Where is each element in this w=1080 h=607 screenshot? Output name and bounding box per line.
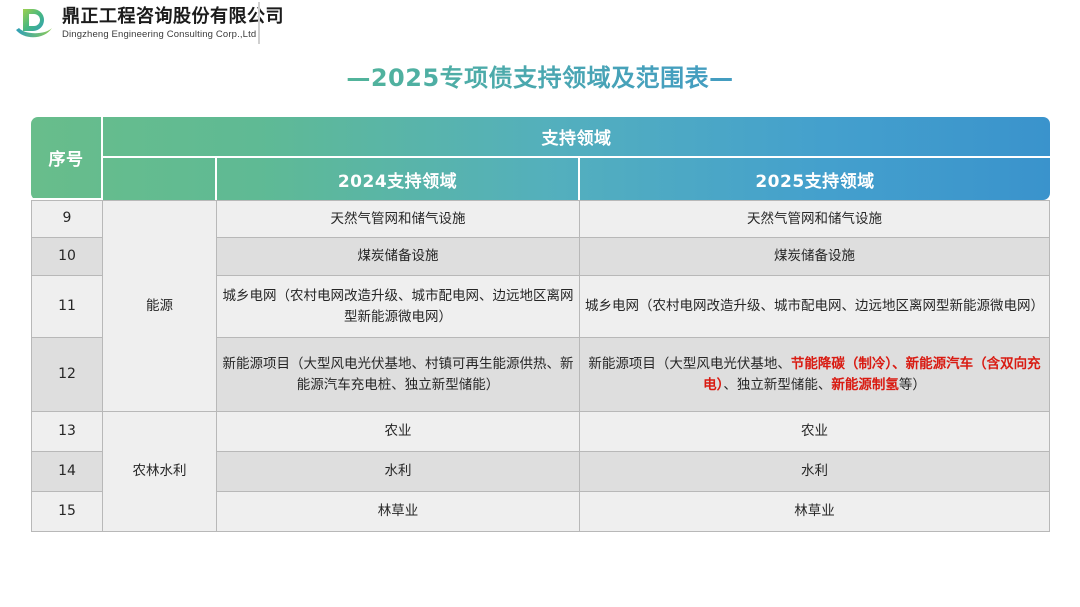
table-row: 9能源天然气管网和储气设施天然气管网和储气设施 — [31, 200, 1050, 238]
cell-seq: 12 — [31, 338, 103, 412]
cell-seq: 10 — [31, 238, 103, 276]
cell-category: 农林水利 — [103, 412, 217, 532]
header-seq: 序号 — [31, 117, 103, 200]
cell-2025: 水利 — [580, 452, 1050, 492]
cell-2024: 水利 — [217, 452, 580, 492]
cell-2025: 新能源项目（大型风电光伏基地、节能降碳（制冷）、新能源汽车（含双向充电）、独立新… — [580, 338, 1050, 412]
table-row: 13农林水利农业农业 — [31, 412, 1050, 452]
cell-seq: 11 — [31, 276, 103, 338]
cell-2024: 农业 — [217, 412, 580, 452]
header-group-support-scope: 支持领域 — [103, 117, 1050, 158]
table-head-row-1: 序号 支持领域 — [31, 117, 1050, 158]
brand-logo-bar: 鼎正工程咨询股份有限公司 Dingzheng Engineering Consu… — [14, 4, 284, 44]
cell-2024: 新能源项目（大型风电光伏基地、村镇可再生能源供热、新能源汽车充电桩、独立新型储能… — [217, 338, 580, 412]
cell-2025: 天然气管网和储气设施 — [580, 200, 1050, 238]
cell-seq: 13 — [31, 412, 103, 452]
support-scope-table: 序号 支持领域 2024支持领域 2025支持领域 9能源天然气管网和储气设施天… — [31, 117, 1050, 532]
cell-2024: 城乡电网（农村电网改造升级、城市配电网、边远地区离网型新能源微电网） — [217, 276, 580, 338]
cell-seq: 14 — [31, 452, 103, 492]
table-body: 9能源天然气管网和储气设施天然气管网和储气设施10煤炭储备设施煤炭储备设施11城… — [31, 200, 1050, 532]
brand-divider — [258, 2, 260, 44]
support-scope-table-wrap: 序号 支持领域 2024支持领域 2025支持领域 9能源天然气管网和储气设施天… — [31, 117, 1050, 532]
plain-text: 等） — [899, 377, 926, 393]
plain-text: 新能源项目（大型风电光伏基地、 — [588, 356, 791, 372]
header-2024: 2024支持领域 — [217, 158, 580, 200]
cell-2025: 城乡电网（农村电网改造升级、城市配电网、边远地区离网型新能源微电网） — [580, 276, 1050, 338]
highlight-text: 新能源制氢 — [831, 377, 899, 393]
plain-text: 、独立新型储能、 — [723, 377, 831, 393]
cell-category: 能源 — [103, 200, 217, 412]
table-head-row-2: 2024支持领域 2025支持领域 — [31, 158, 1050, 200]
cell-2024: 煤炭储备设施 — [217, 238, 580, 276]
cell-seq: 15 — [31, 492, 103, 532]
cell-2025: 农业 — [580, 412, 1050, 452]
cell-2025: 煤炭储备设施 — [580, 238, 1050, 276]
brand-name-en: Dingzheng Engineering Consulting Corp.,L… — [62, 29, 284, 40]
header-2025: 2025支持领域 — [580, 158, 1050, 200]
cell-seq: 9 — [31, 200, 103, 238]
table-head: 序号 支持领域 2024支持领域 2025支持领域 — [31, 117, 1050, 200]
page-title: —2025专项债支持领域及范围表— — [0, 58, 1080, 93]
dingzheng-d-logo-icon — [14, 4, 54, 44]
cell-2024: 天然气管网和储气设施 — [217, 200, 580, 238]
cell-2025: 林草业 — [580, 492, 1050, 532]
cell-2024: 林草业 — [217, 492, 580, 532]
brand-name-cn: 鼎正工程咨询股份有限公司 — [62, 7, 284, 28]
header-category-blank — [103, 158, 217, 200]
